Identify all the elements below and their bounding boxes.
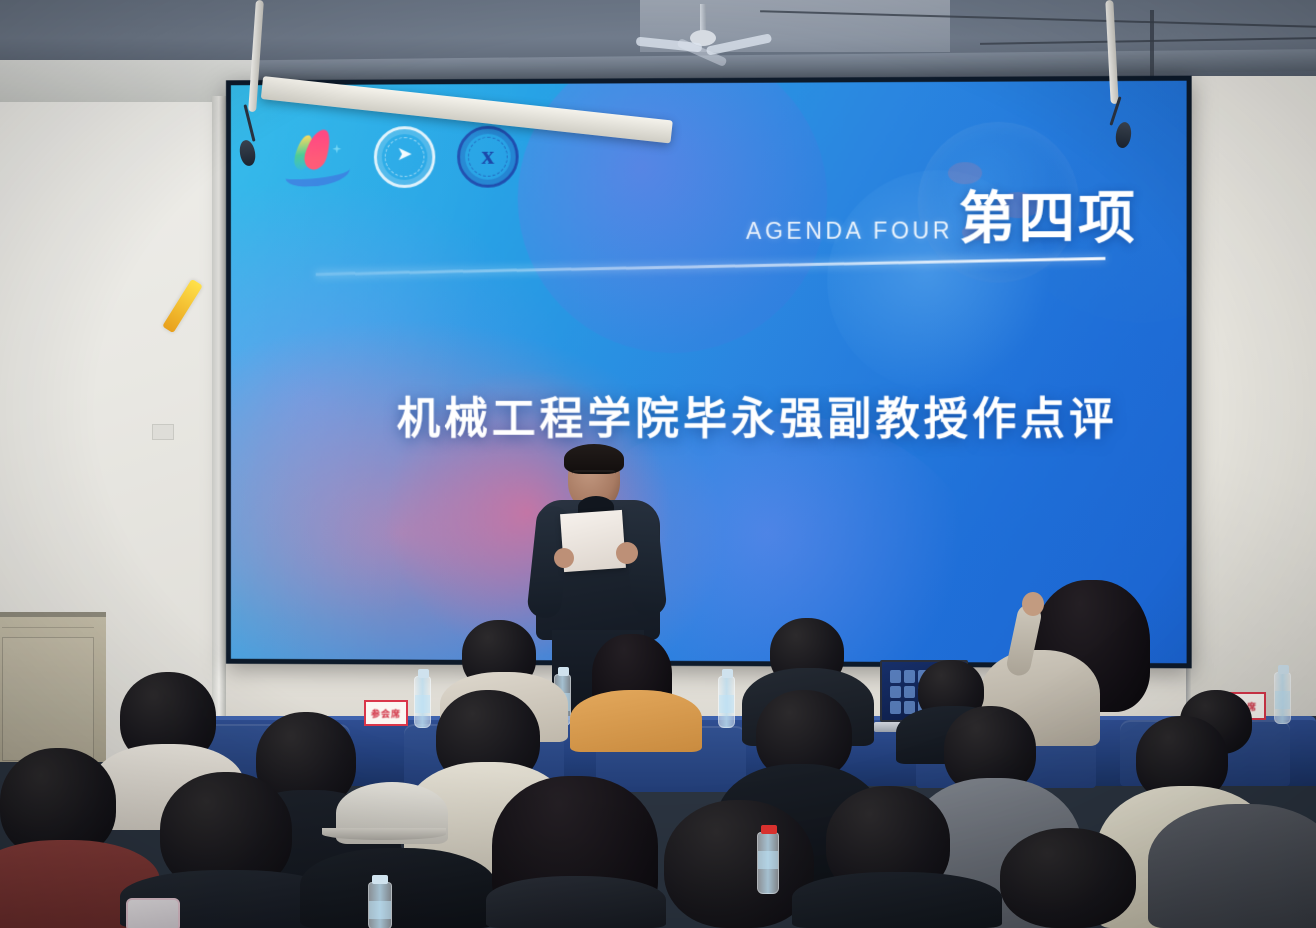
university-seal-bird-logo: ➤ <box>374 126 435 188</box>
audience-body <box>486 876 666 928</box>
wall-edge <box>212 96 226 756</box>
name-card-text: 参会席 <box>371 707 401 720</box>
water-bottle <box>718 676 735 728</box>
presenter-hand-right <box>616 542 638 564</box>
presenter-hand-left <box>554 548 574 568</box>
audience-body <box>300 848 496 928</box>
audience-head <box>1000 828 1136 928</box>
glasses-icon <box>572 470 616 478</box>
wall-sign <box>152 424 174 440</box>
slide-logo-row: ➤ x <box>285 126 519 189</box>
smartphone[interactable] <box>126 898 180 928</box>
left-cabinet <box>0 612 106 762</box>
cabinet-door <box>2 637 94 761</box>
projection-screen: ➤ x AGENDA FOUR 第四项 机械工程学院毕永强副教授作点评 <box>226 76 1192 669</box>
university-seal-x-logo: x <box>457 126 519 188</box>
audience-body <box>792 872 1002 928</box>
agenda-label-cn: 第四项 <box>959 190 1138 247</box>
ceiling-fan <box>648 4 758 64</box>
audience-body <box>570 690 702 752</box>
name-card: 参会席 <box>364 700 408 726</box>
photo-canvas: ➤ x AGENDA FOUR 第四项 机械工程学院毕永强副教授作点评 <box>0 0 1316 928</box>
agenda-heading: AGENDA FOUR 第四项 <box>746 190 1138 247</box>
raised-hand <box>1022 592 1044 616</box>
slide-title: 机械工程学院毕永强副教授作点评 <box>231 383 1187 448</box>
audience-body <box>1148 804 1316 928</box>
agenda-label-en: AGENDA FOUR <box>746 219 953 247</box>
flame-swoosh-logo <box>285 126 352 188</box>
cap-brim <box>322 828 446 840</box>
right-wall <box>1182 76 1316 716</box>
water-bottle <box>1274 672 1291 724</box>
water-bottle <box>757 832 779 894</box>
water-bottle <box>414 676 431 728</box>
slide-surface: ➤ x AGENDA FOUR 第四项 机械工程学院毕永强副教授作点评 <box>231 81 1187 664</box>
star-icon <box>332 144 341 153</box>
water-bottle <box>368 882 392 928</box>
ceiling-wire <box>1150 10 1154 80</box>
bird-icon: ➤ <box>397 144 413 163</box>
x-emblem-icon: x <box>481 143 494 169</box>
